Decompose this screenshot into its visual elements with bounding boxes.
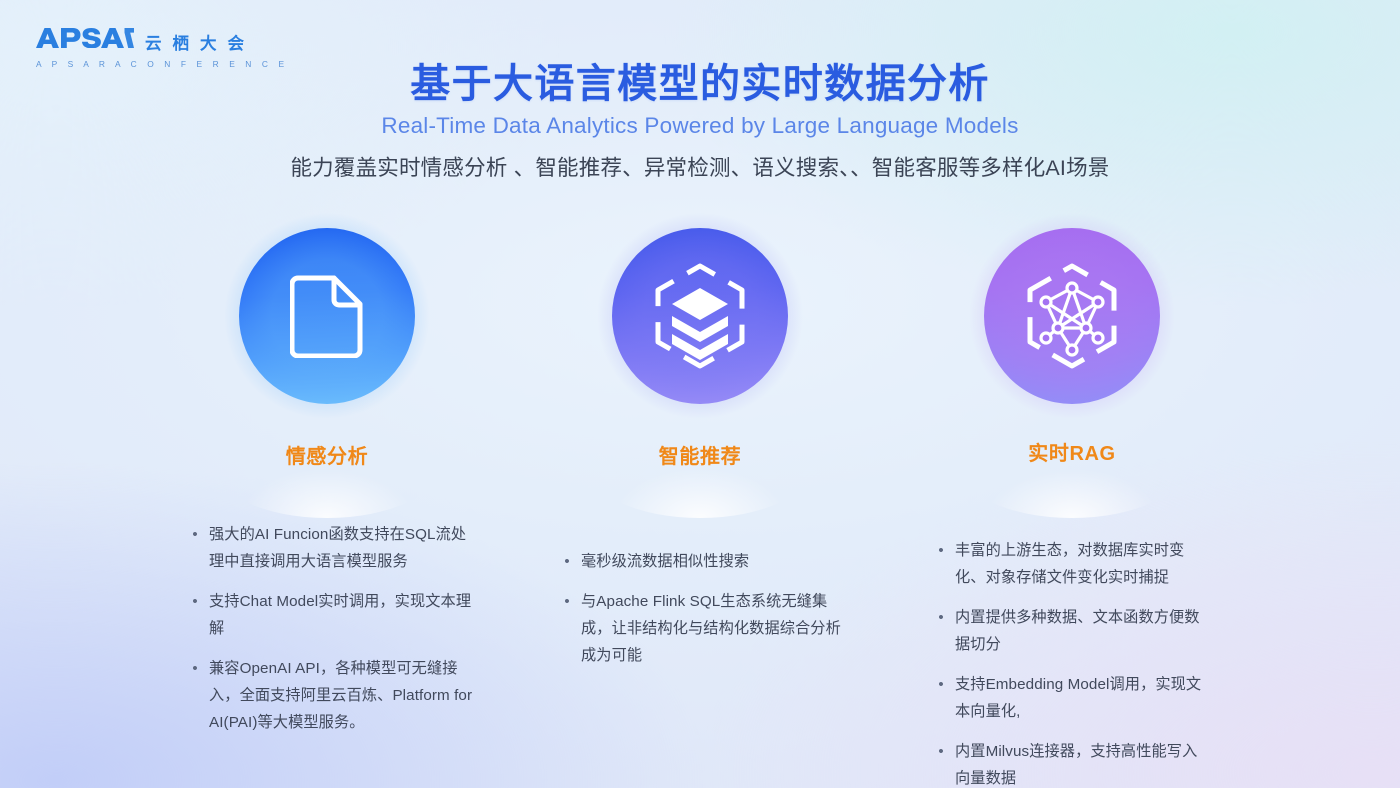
- layers-hexagon-icon: [650, 262, 750, 370]
- bullet-marker-icon: •: [936, 537, 946, 591]
- bullet-list-smart-recommendation: • 毫秒级流数据相似性搜索 • 与Apache Flink SQL生态系统无缝集…: [562, 548, 852, 682]
- bullet-marker-icon: •: [936, 671, 946, 725]
- orb-realtime-rag: [984, 228, 1160, 404]
- bullet-marker-icon: •: [190, 521, 200, 575]
- bullet-marker-icon: •: [936, 738, 946, 788]
- card-label-sentiment-analysis: 情感分析: [147, 445, 507, 469]
- list-item-text: 丰富的上游生态，对数据库实时变化、对象存储文件变化实时捕捉: [955, 537, 1211, 591]
- feature-card-sentiment-analysis[interactable]: 情感分析: [147, 222, 507, 469]
- bullet-marker-icon: •: [562, 588, 572, 669]
- list-item: • 强大的AI Funcion函数支持在SQL流处理中直接调用大语言模型服务: [190, 521, 480, 575]
- orb-wrapper: [520, 222, 880, 477]
- card-label-smart-recommendation: 智能推荐: [520, 445, 880, 469]
- document-icon: [290, 274, 364, 358]
- feature-card-realtime-rag[interactable]: 实时RAG: [892, 222, 1252, 466]
- bullet-marker-icon: •: [562, 548, 572, 575]
- bullet-list-sentiment-analysis: • 强大的AI Funcion函数支持在SQL流处理中直接调用大语言模型服务 •…: [190, 521, 480, 749]
- orb-wrapper: [892, 222, 1252, 477]
- list-item-text: 毫秒级流数据相似性搜索: [581, 548, 852, 575]
- bullet-marker-icon: •: [190, 655, 200, 736]
- list-item: • 支持Embedding Model调用，实现文本向量化,: [936, 671, 1211, 725]
- list-item: • 内置Milvus连接器，支持高性能写入向量数据: [936, 738, 1211, 788]
- bullet-marker-icon: •: [936, 604, 946, 658]
- list-item: • 兼容OpenAI API，各种模型可无缝接入，全面支持阿里云百炼、Platf…: [190, 655, 480, 736]
- list-item: • 毫秒级流数据相似性搜索: [562, 548, 852, 575]
- list-item: • 内置提供多种数据、文本函数方便数据切分: [936, 604, 1211, 658]
- list-item-text: 兼容OpenAI API，各种模型可无缝接入，全面支持阿里云百炼、Platfor…: [209, 655, 480, 736]
- list-item: • 支持Chat Model实时调用，实现文本理解: [190, 588, 480, 642]
- card-label-realtime-rag: 实时RAG: [892, 442, 1252, 466]
- bullet-list-realtime-rag: • 丰富的上游生态，对数据库实时变化、对象存储文件变化实时捕捉 • 内置提供多种…: [936, 537, 1211, 788]
- orb-wrapper: [147, 222, 507, 477]
- list-item: • 丰富的上游生态，对数据库实时变化、对象存储文件变化实时捕捉: [936, 537, 1211, 591]
- orb-smart-recommendation: [612, 228, 788, 404]
- list-item-text: 内置Milvus连接器，支持高性能写入向量数据: [955, 738, 1211, 788]
- list-item-text: 强大的AI Funcion函数支持在SQL流处理中直接调用大语言模型服务: [209, 521, 480, 575]
- list-item-text: 与Apache Flink SQL生态系统无缝集成，让非结构化与结构化数据综合分…: [581, 588, 852, 669]
- list-item: • 与Apache Flink SQL生态系统无缝集成，让非结构化与结构化数据综…: [562, 588, 852, 669]
- list-item-text: 支持Chat Model实时调用，实现文本理解: [209, 588, 480, 642]
- bullet-marker-icon: •: [190, 588, 200, 642]
- feature-card-smart-recommendation[interactable]: 智能推荐: [520, 222, 880, 469]
- list-item-text: 内置提供多种数据、文本函数方便数据切分: [955, 604, 1211, 658]
- network-hexagon-icon: [1022, 262, 1122, 370]
- orb-sentiment-analysis: [239, 228, 415, 404]
- list-item-text: 支持Embedding Model调用，实现文本向量化,: [955, 671, 1211, 725]
